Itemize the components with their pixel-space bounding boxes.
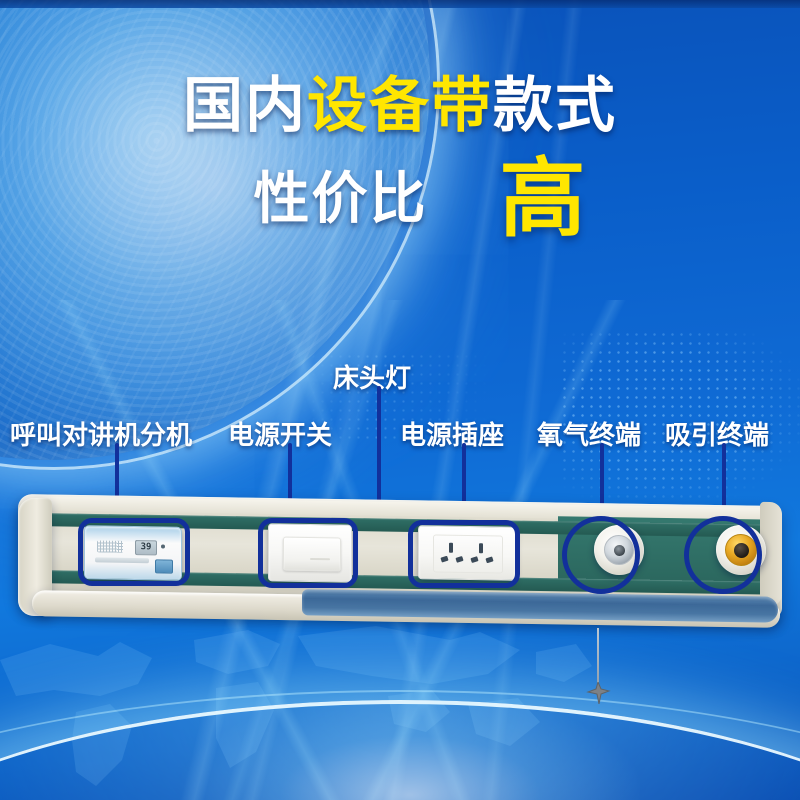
callout-label-power-switch: 电源开关 — [228, 415, 332, 452]
headline-line-1: 国内设备带款式 — [0, 76, 800, 136]
headline-block: 国内设备带款式 性价比 高 — [0, 76, 800, 242]
promo-banner: 国内设备带款式 性价比 高 呼叫对讲机分机 电源开关 床头灯 电源插座 氧气终端… — [0, 0, 800, 800]
highlight-box-power-switch — [258, 518, 358, 588]
highlight-circle-oxygen — [562, 516, 640, 594]
highlight-box-socket — [408, 520, 520, 588]
horizon-arc-secondary — [0, 690, 800, 800]
highlight-circle-suction — [684, 516, 762, 594]
headline-highlight: 高 — [500, 156, 587, 242]
headline-part-2: 款式 — [493, 72, 617, 139]
callout-label-oxygen: 氧气终端 — [537, 415, 641, 452]
callout-label-suction: 吸引终端 — [665, 415, 769, 452]
callout-label-socket: 电源插座 — [400, 415, 504, 452]
headline-part-1: 国内 — [183, 72, 307, 139]
suction-hose-cord — [597, 628, 599, 690]
suction-probe-icon — [585, 682, 611, 704]
headline-accent: 设备带 — [307, 72, 493, 139]
callout-label-bed-lamp: 床头灯 — [333, 358, 411, 395]
horizon-arc-glow — [0, 700, 800, 800]
headline-subtext: 性价比 — [254, 171, 428, 227]
horizon-center-glow — [180, 690, 640, 800]
callout-label-intercom: 呼叫对讲机分机 — [10, 415, 192, 452]
top-edge-band — [0, 0, 800, 8]
highlight-box-intercom — [78, 518, 190, 586]
headline-line-2: 性价比 高 — [0, 156, 800, 242]
